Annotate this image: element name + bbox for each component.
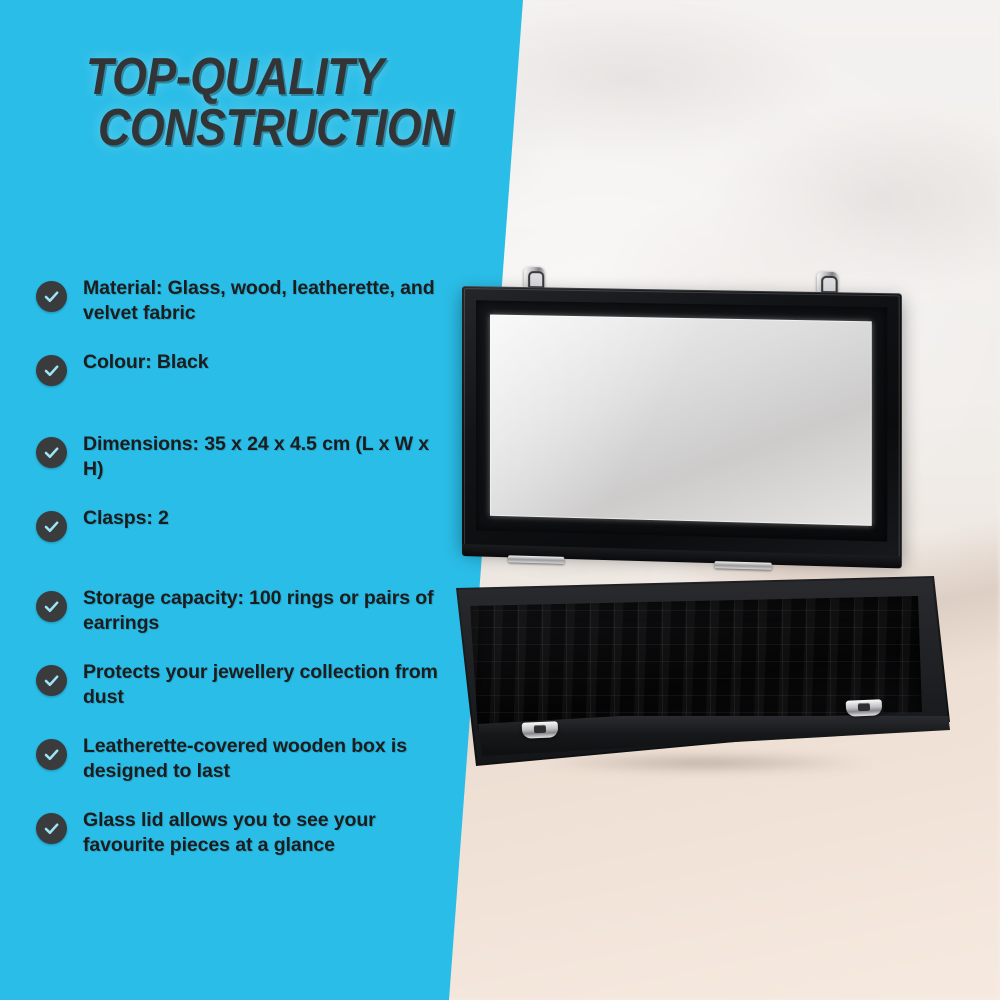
clasp-latch-left-icon: [522, 721, 559, 739]
list-item: Leatherette-covered wooden box is design…: [36, 734, 446, 790]
glass-panel: [490, 315, 872, 526]
feature-label: Glass lid allows you to see your favouri…: [83, 808, 446, 857]
list-item: Clasps: 2: [36, 506, 446, 562]
list-item: Storage capacity: 100 rings or pairs of …: [36, 586, 446, 642]
check-circle-icon: [36, 813, 67, 844]
title-line-1: TOP-QUALITY: [86, 48, 384, 106]
check-circle-icon: [36, 281, 67, 312]
list-item: Colour: Black: [36, 350, 446, 406]
clasp-latch-right-icon: [846, 699, 883, 717]
glass-lid: [462, 286, 902, 560]
check-circle-icon: [36, 437, 67, 468]
check-circle-icon: [36, 665, 67, 696]
hinge-left-icon: [508, 555, 564, 564]
list-item: Dimensions: 35 x 24 x 4.5 cm (L x W x H): [36, 432, 446, 488]
list-item: Material: Glass, wood, leatherette, and …: [36, 276, 446, 332]
feature-label: Protects your jewellery collection from …: [83, 660, 446, 709]
list-item: Glass lid allows you to see your favouri…: [36, 808, 446, 864]
feature-list: Material: Glass, wood, leatherette, and …: [36, 276, 446, 882]
page-title: TOP-QUALITY CONSTRUCTION: [86, 52, 430, 154]
hinge-right-icon: [715, 561, 772, 570]
check-circle-icon: [36, 355, 67, 386]
feature-label: Clasps: 2: [83, 506, 169, 531]
product-image: [440, 250, 960, 780]
feature-label: Storage capacity: 100 rings or pairs of …: [83, 586, 446, 635]
list-item: Protects your jewellery collection from …: [36, 660, 446, 716]
feature-label: Colour: Black: [83, 350, 208, 375]
infographic-canvas: TOP-QUALITY CONSTRUCTION Material: Glass…: [0, 0, 1000, 1000]
check-circle-icon: [36, 511, 67, 542]
feature-label: Dimensions: 35 x 24 x 4.5 cm (L x W x H): [83, 432, 446, 481]
feature-label: Material: Glass, wood, leatherette, and …: [83, 276, 446, 325]
check-circle-icon: [36, 739, 67, 770]
check-circle-icon: [36, 591, 67, 622]
feature-label: Leatherette-covered wooden box is design…: [83, 734, 446, 783]
case-base-tray: [454, 576, 950, 766]
title-line-2: CONSTRUCTION: [86, 103, 430, 154]
